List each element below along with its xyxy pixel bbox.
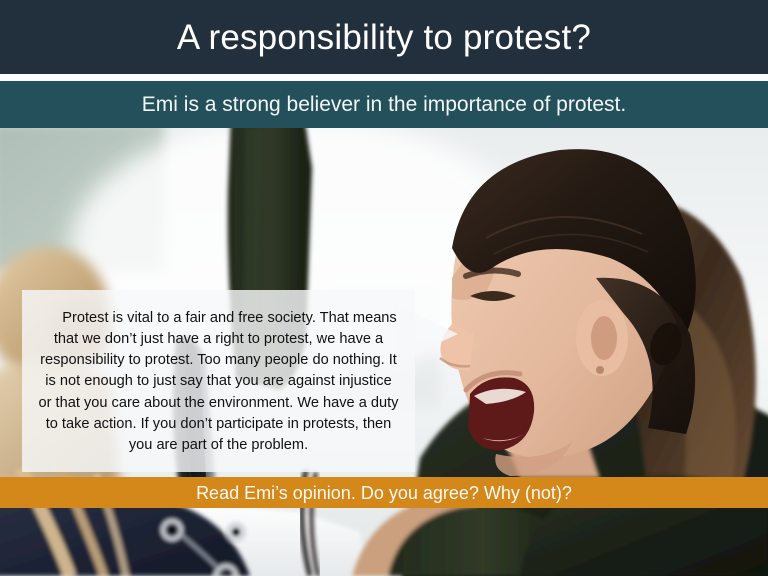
subtitle-bar: Emi is a strong believer in the importan… xyxy=(0,81,768,128)
page-title: A responsibility to protest? xyxy=(177,20,591,55)
slide-canvas: Protest is vital to a fair and free soci… xyxy=(0,0,768,576)
subtitle-text: Emi is a strong believer in the importan… xyxy=(142,94,626,115)
speech-bubble-body: Protest is vital to a fair and free soci… xyxy=(22,290,415,472)
bar-divider xyxy=(0,74,768,81)
title-bar: A responsibility to protest? xyxy=(0,0,768,74)
speech-bubble: Protest is vital to a fair and free soci… xyxy=(22,290,415,472)
prompt-text: Read Emi’s opinion. Do you agree? Why (n… xyxy=(196,484,572,502)
quote-text: Protest is vital to a fair and free soci… xyxy=(38,308,399,456)
prompt-bar: Read Emi’s opinion. Do you agree? Why (n… xyxy=(0,477,768,508)
